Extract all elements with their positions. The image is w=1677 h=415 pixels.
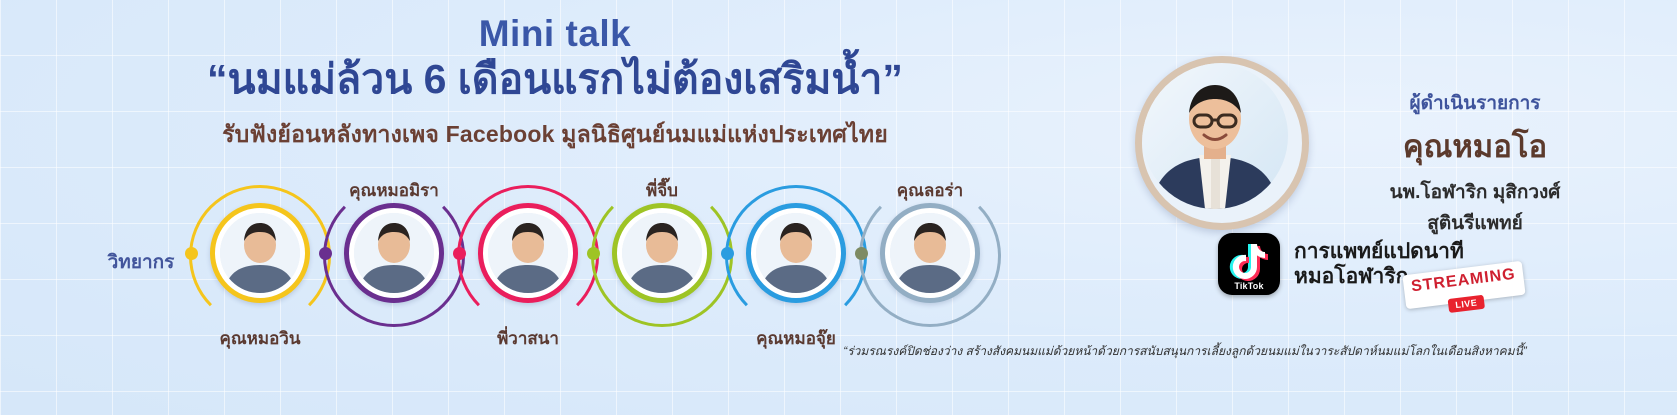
host-portrait-illustration (1142, 63, 1288, 209)
speaker-photo (217, 210, 303, 296)
timeline-dot (453, 247, 466, 260)
speaker-avatar[interactable] (880, 203, 980, 303)
promo-banner: Mini talk “นมแม่ล้วน 6 เดือนแรกไม่ต้องเส… (0, 0, 1677, 415)
speaker-photo (485, 210, 571, 296)
host-role-label: ผู้ดำเนินรายการ (1310, 88, 1640, 118)
speaker-photo (753, 210, 839, 296)
speaker-portrait-illustration (622, 213, 702, 293)
speaker-avatar[interactable] (478, 203, 578, 303)
live-label: LIVE (1448, 295, 1485, 313)
tiktok-icon[interactable]: TikTok (1218, 233, 1280, 295)
host-nickname: คุณหมอโอ (1310, 121, 1640, 171)
timeline-dot (185, 247, 198, 260)
channel-name-line1: การแพทย์แปดนาที (1294, 239, 1464, 264)
speaker-portrait-illustration (756, 213, 836, 293)
speaker-portrait-illustration (488, 213, 568, 293)
speaker-avatar[interactable] (746, 203, 846, 303)
speaker-portrait-illustration (220, 213, 300, 293)
host-info: ผู้ดำเนินรายการ คุณหมอโอ นพ.โอฬาริก มุสิ… (1310, 88, 1640, 238)
speakers-section-label: วิทยากร (86, 247, 196, 277)
headline-block: Mini talk “นมแม่ล้วน 6 เดือนแรกไม่ต้องเส… (0, 14, 1110, 153)
speaker-avatar[interactable] (210, 203, 310, 303)
speaker-node[interactable]: คุณลอร่า (865, 175, 995, 345)
mini-talk-title: Mini talk (0, 14, 1110, 54)
timeline-dot (855, 247, 868, 260)
speaker-photo (351, 210, 437, 296)
host-photo (1135, 56, 1309, 230)
speaker-node[interactable]: คุณหมอมิรา (329, 175, 459, 345)
speaker-avatar[interactable] (612, 203, 712, 303)
host-avatar (1135, 56, 1309, 230)
speaker-avatar[interactable] (344, 203, 444, 303)
speaker-photo (887, 210, 973, 296)
speaker-portrait-illustration (354, 213, 434, 293)
talk-topic-quote: “นมแม่ล้วน 6 เดือนแรกไม่ต้องเสริมน้ำ” (0, 56, 1110, 103)
timeline-dot (587, 247, 600, 260)
campaign-footnote: “ร่วมรณรงค์ปิดช่องว่าง สร้างสังคมนมแม่ด้… (835, 342, 1535, 361)
tiktok-wordmark: TikTok (1218, 281, 1280, 291)
tiktok-note-glyph (1227, 239, 1271, 283)
host-full-name: นพ.โอฬาริก มุสิกวงศ์ (1310, 177, 1640, 207)
speaker-name-label: คุณลอร่า (830, 177, 1030, 204)
speaker-node[interactable]: พี่จี๊บ (597, 175, 727, 345)
speakers-timeline: วิทยากร คุณหมอวินคุณหมอมิราพี่วาสนาพี่จี… (0, 175, 1060, 355)
speaker-photo (619, 210, 705, 296)
replay-subtitle: รับฟังย้อนหลังทางเพจ Facebook มูลนิธิศูน… (0, 117, 1110, 153)
timeline-dot (319, 247, 332, 260)
timeline-dot (721, 247, 734, 260)
speaker-portrait-illustration (890, 213, 970, 293)
